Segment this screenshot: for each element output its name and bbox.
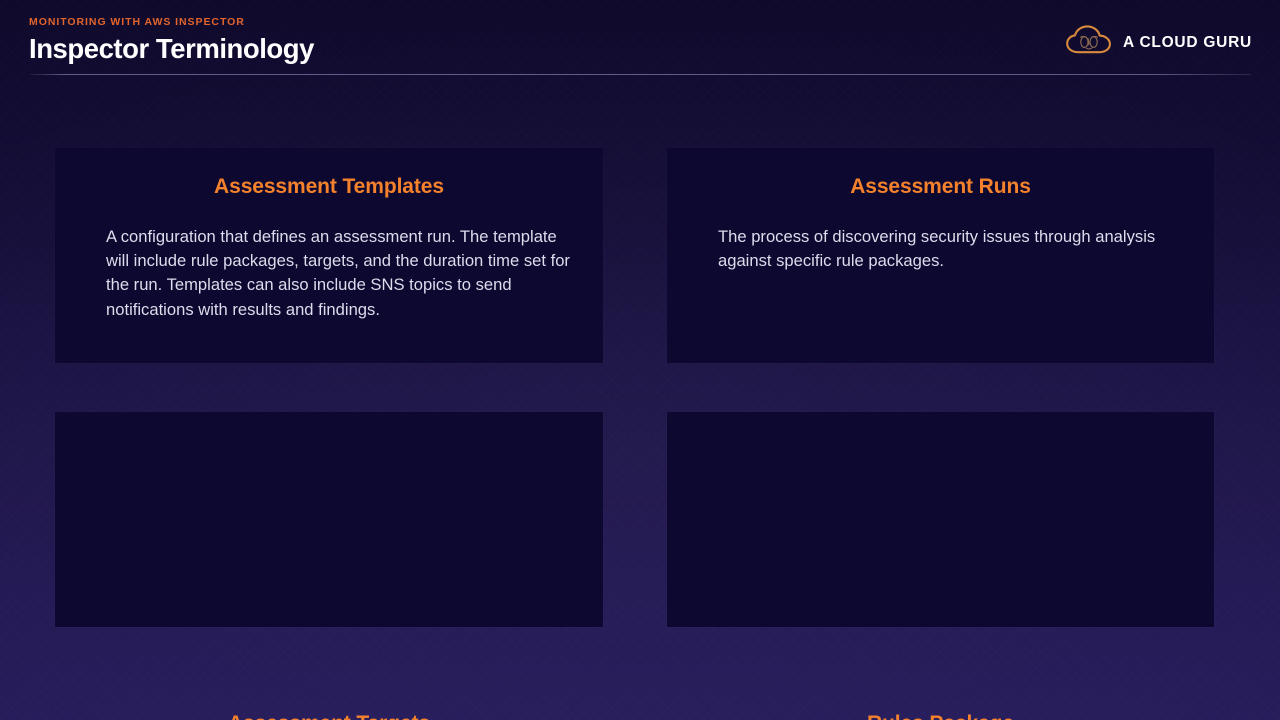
brand-lockup: A CLOUD GURU (1065, 25, 1252, 60)
card-title: Assessment Runs (667, 175, 1214, 199)
slide-header: MONITORING WITH AWS INSPECTOR Inspector … (0, 0, 1280, 76)
terminology-card: Assessment Targets A collection of EC2 i… (55, 412, 603, 627)
terminology-card: Assessment Templates A configuration tha… (55, 148, 603, 363)
card-title: Rules Package (667, 712, 1214, 720)
course-eyebrow-label: MONITORING WITH AWS INSPECTOR (29, 16, 245, 28)
cloud-guru-logo-icon (1065, 25, 1113, 60)
slide-canvas: MONITORING WITH AWS INSPECTOR Inspector … (0, 0, 1280, 720)
card-body-text: The process of discovering security issu… (718, 225, 1188, 273)
brand-name-label: A CLOUD GURU (1123, 34, 1252, 52)
card-title: Assessment Templates (55, 175, 603, 199)
terminology-card: Assessment Runs The process of discoveri… (667, 148, 1214, 363)
card-title: Assessment Targets (55, 712, 603, 720)
terminology-card: Rules Package A collection of security c… (667, 412, 1214, 627)
card-body-text: A configuration that defines an assessme… (106, 225, 576, 322)
page-title: Inspector Terminology (29, 33, 314, 65)
terminology-card-grid: Assessment Templates A configuration tha… (55, 148, 1214, 627)
header-divider (29, 74, 1251, 75)
